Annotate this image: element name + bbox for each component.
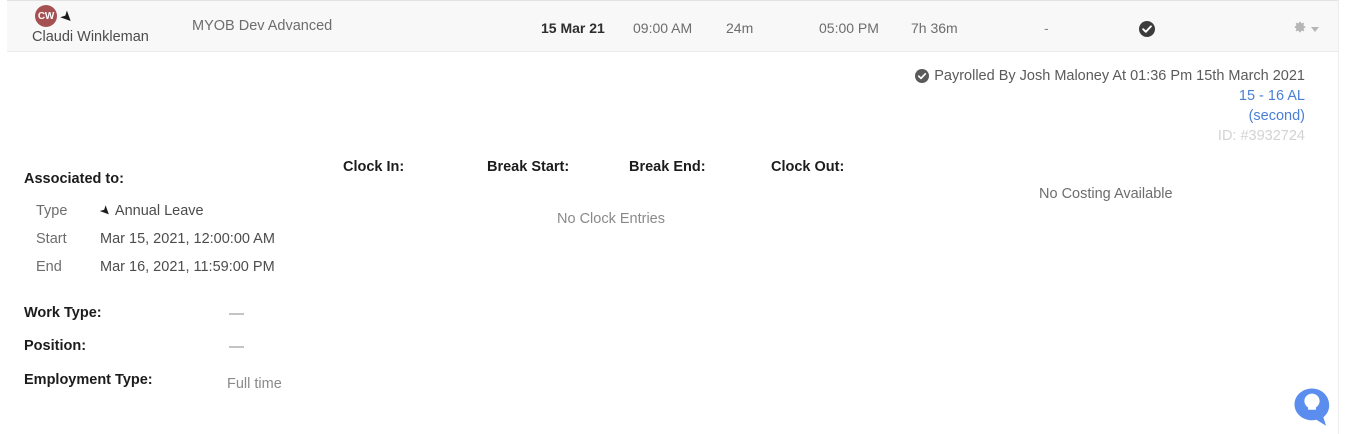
associated-end-value: Mar 16, 2021, 11:59:00 PM bbox=[100, 259, 275, 275]
associated-type-label: Type bbox=[36, 203, 67, 219]
settings-menu-button[interactable] bbox=[1293, 20, 1319, 39]
leave-link[interactable]: 15 - 16 AL bbox=[915, 86, 1305, 106]
employment-type-label: Employment Type: bbox=[24, 372, 153, 388]
right-page-gutter bbox=[1338, 0, 1345, 434]
header-break: 24m bbox=[726, 20, 753, 36]
no-clock-entries-message: No Clock Entries bbox=[557, 211, 665, 227]
timesheet-detail-page: CW ➤ Claudi Winkleman MYOB Dev Advanced … bbox=[0, 0, 1345, 434]
position-value: — bbox=[229, 338, 244, 355]
lightbulb-speech-bubble-icon bbox=[1292, 386, 1334, 428]
work-type-label: Work Type: bbox=[24, 305, 102, 321]
associated-start-label: Start bbox=[36, 231, 67, 247]
associated-type-value: ➤Annual Leave bbox=[100, 203, 204, 219]
timesheet-header-row[interactable]: CW ➤ Claudi Winkleman MYOB Dev Advanced … bbox=[7, 0, 1338, 52]
payroll-status-text: Payrolled By Josh Maloney At 01:36 Pm 15… bbox=[934, 66, 1305, 86]
feedback-button[interactable] bbox=[1292, 386, 1334, 428]
payroll-status-block: Payrolled By Josh Maloney At 01:36 Pm 15… bbox=[915, 66, 1305, 146]
associated-end-label: End bbox=[36, 259, 62, 275]
header-clock-out: 05:00 PM bbox=[819, 20, 879, 36]
left-gutter bbox=[0, 0, 7, 52]
header-total-hours: 7h 36m bbox=[911, 20, 958, 36]
check-circle-icon bbox=[915, 69, 929, 83]
airplane-icon: ➤ bbox=[96, 201, 115, 220]
employment-type-value: Full time bbox=[227, 376, 282, 392]
avatar: CW bbox=[35, 5, 57, 27]
check-circle-icon[interactable] bbox=[1139, 21, 1155, 37]
work-type-value: — bbox=[229, 305, 244, 322]
column-header-break-end: Break End: bbox=[629, 159, 706, 175]
associated-start-value: Mar 15, 2021, 12:00:00 AM bbox=[100, 231, 275, 247]
payroll-status-line: Payrolled By Josh Maloney At 01:36 Pm 15… bbox=[915, 66, 1305, 86]
column-header-break-start: Break Start: bbox=[487, 159, 569, 175]
column-header-clock-in: Clock In: bbox=[343, 159, 404, 175]
record-id: ID: #3932724 bbox=[915, 126, 1305, 146]
header-cost: - bbox=[1044, 20, 1049, 36]
header-clock-in: 09:00 AM bbox=[633, 20, 692, 36]
airplane-icon: ➤ bbox=[57, 7, 77, 27]
header-date: 15 Mar 21 bbox=[541, 20, 605, 36]
chevron-down-icon bbox=[1311, 27, 1319, 32]
organisation-name: MYOB Dev Advanced bbox=[192, 18, 332, 34]
gear-icon bbox=[1293, 20, 1307, 39]
associated-type-text: Annual Leave bbox=[115, 203, 204, 219]
position-label: Position: bbox=[24, 338, 86, 354]
leave-link-sub[interactable]: (second) bbox=[915, 106, 1305, 126]
no-costing-message: No Costing Available bbox=[1039, 186, 1173, 202]
associated-to-title: Associated to: bbox=[24, 171, 124, 187]
column-header-clock-out: Clock Out: bbox=[771, 159, 844, 175]
